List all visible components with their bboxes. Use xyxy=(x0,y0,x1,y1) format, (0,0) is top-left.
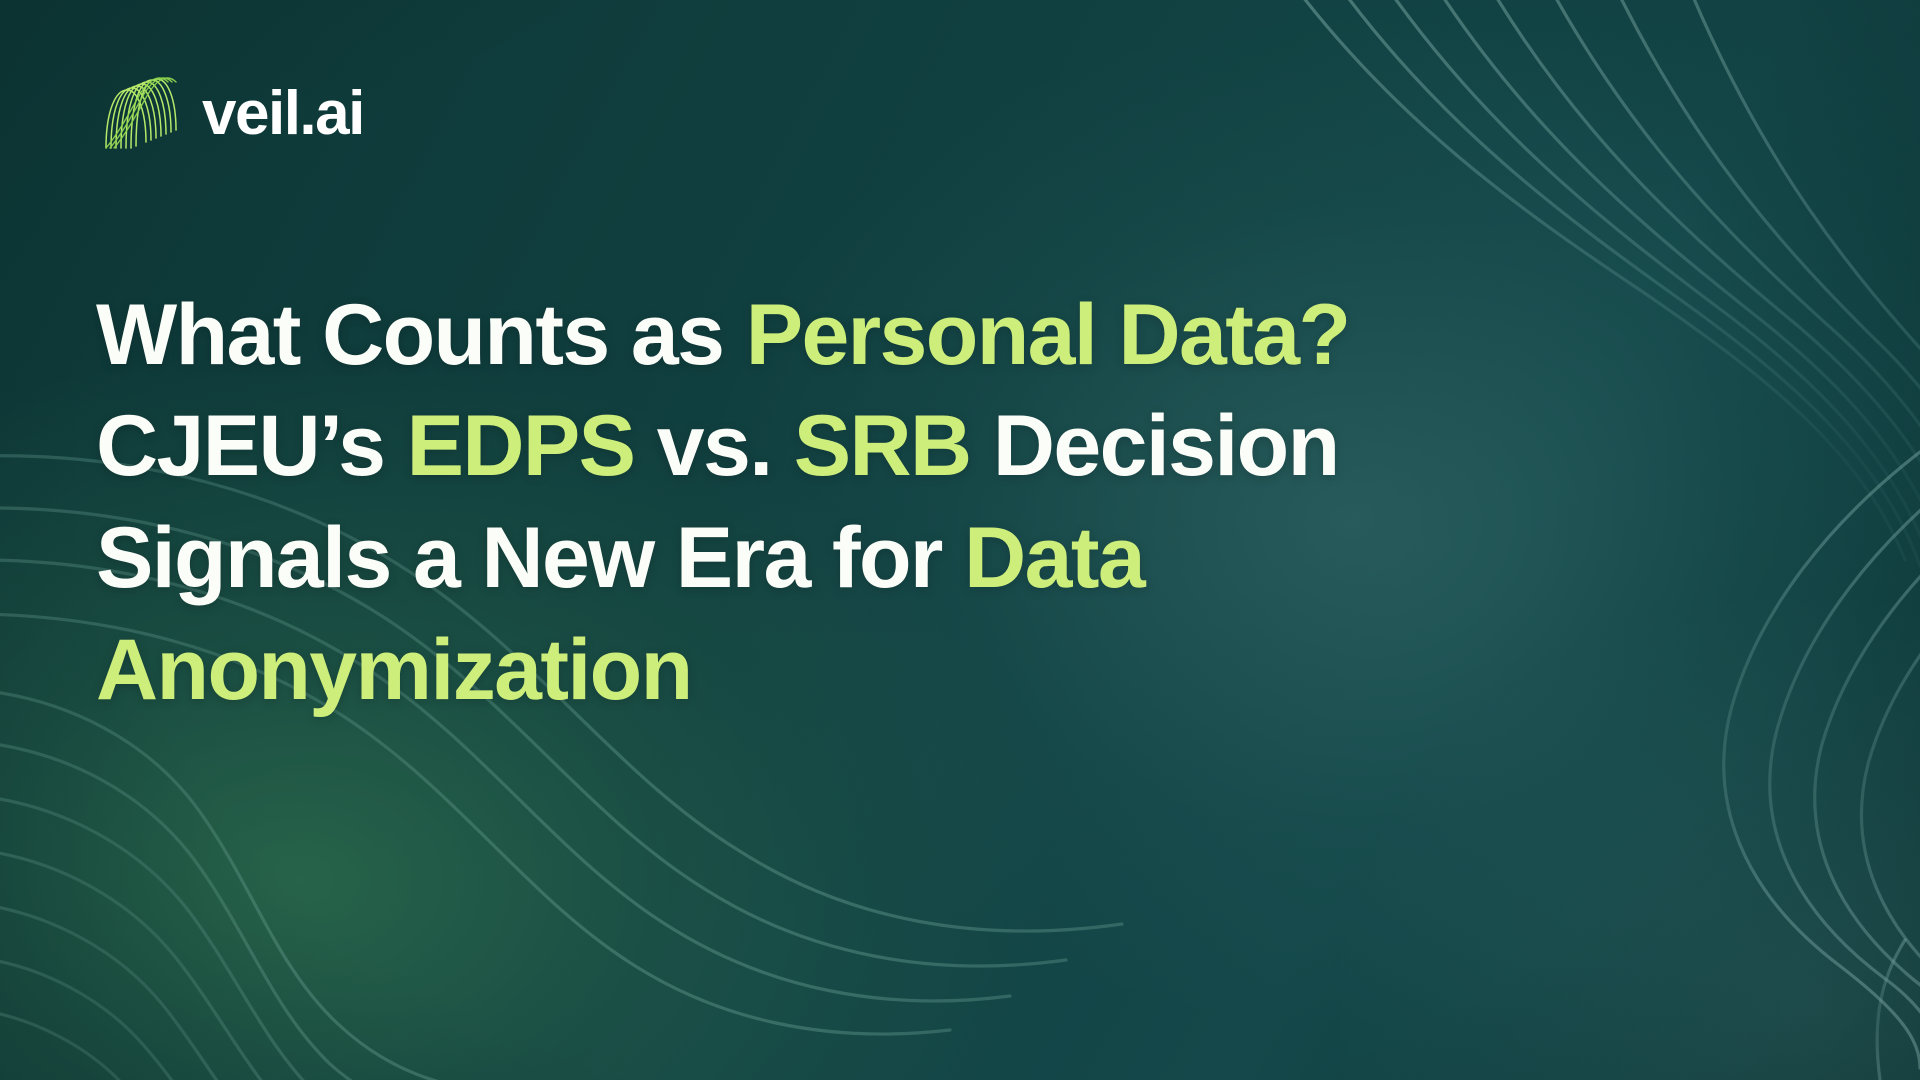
veil-wave-mark-icon xyxy=(96,76,188,150)
headline-text: CJEU’s xyxy=(96,398,407,494)
logo-wordmark: veil.ai xyxy=(202,83,364,145)
headline-highlight: EDPS xyxy=(407,398,635,494)
headline-highlight: SRB xyxy=(794,398,971,494)
headline-highlight: Anonymization xyxy=(96,622,692,718)
cover-canvas: veil.ai What Counts as Personal Data?CJE… xyxy=(0,0,1920,1080)
headline-text: What Counts as xyxy=(96,287,746,383)
page-title: What Counts as Personal Data?CJEU’s EDPS… xyxy=(96,280,1656,727)
headline-line: Anonymization xyxy=(96,615,1656,727)
headline-line: What Counts as Personal Data? xyxy=(96,280,1656,392)
headline-highlight: Personal Data? xyxy=(746,287,1350,383)
headline-text: vs. xyxy=(634,398,793,494)
headline-line: Signals a New Era for Data xyxy=(96,503,1656,615)
brand-logo[interactable]: veil.ai xyxy=(96,76,364,150)
headline-text: Decision xyxy=(971,398,1339,494)
headline-text: Signals a New Era for xyxy=(96,510,964,606)
headline-highlight: Data xyxy=(964,510,1144,606)
headline-line: CJEU’s EDPS vs. SRB Decision xyxy=(96,391,1656,503)
